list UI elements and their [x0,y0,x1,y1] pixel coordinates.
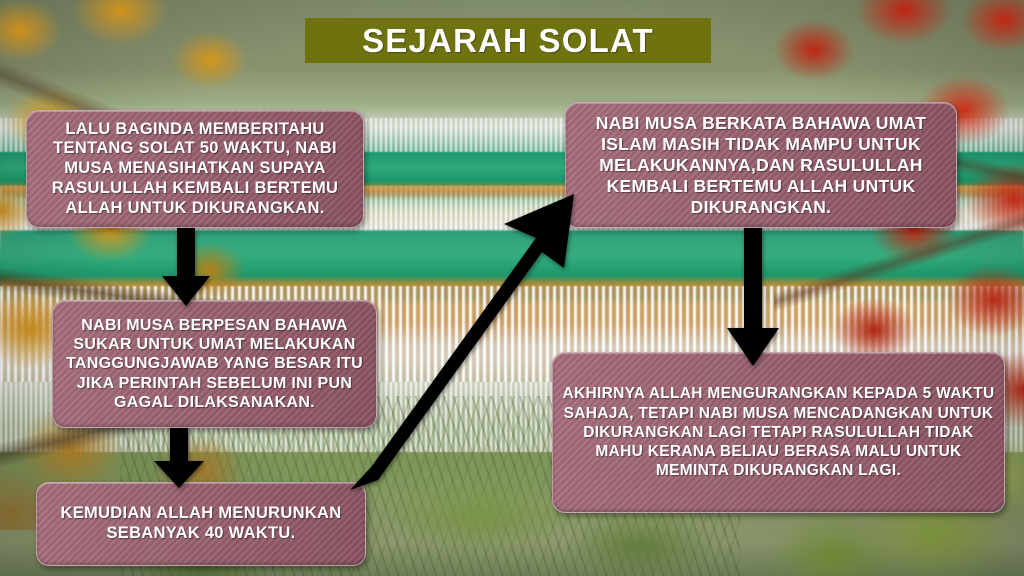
page-title: SEJARAH SOLAT [362,22,654,60]
flow-box-1[interactable]: LALU BAGINDA MEMBERITAHU TENTANG SOLAT 5… [26,110,364,228]
flow-box-2[interactable]: NABI MUSA BERKATA BAHAWA UMAT ISLAM MASI… [565,102,957,228]
flow-box-1-text: LALU BAGINDA MEMBERITAHU TENTANG SOLAT 5… [36,120,354,219]
arrow-down-icon-box3-to-box4 [150,428,208,488]
flow-box-2-text: NABI MUSA BERKATA BAHAWA UMAT ISLAM MASI… [575,113,947,218]
flow-box-3-text: NABI MUSA BERPESAN BAHAWA SUKAR UNTUK UM… [62,316,367,412]
flow-box-4-text: KEMUDIAN ALLAH MENURUNKAN SEBANYAK 40 WA… [46,504,356,544]
flow-box-5[interactable]: AKHIRNYA ALLAH MENGURANGKAN KEPADA 5 WAK… [552,352,1005,513]
arrow-down-icon-box1-to-box3 [158,228,214,306]
arrow-down-icon-box2-to-box5 [723,228,783,366]
arrow-diagonal-icon-box4-to-box2 [350,190,580,490]
page-title-banner: SEJARAH SOLAT [305,18,711,63]
flow-box-5-text: AKHIRNYA ALLAH MENGURANGKAN KEPADA 5 WAK… [562,384,995,480]
flow-box-3[interactable]: NABI MUSA BERPESAN BAHAWA SUKAR UNTUK UM… [52,300,377,428]
flow-box-4[interactable]: KEMUDIAN ALLAH MENURUNKAN SEBANYAK 40 WA… [36,482,366,566]
